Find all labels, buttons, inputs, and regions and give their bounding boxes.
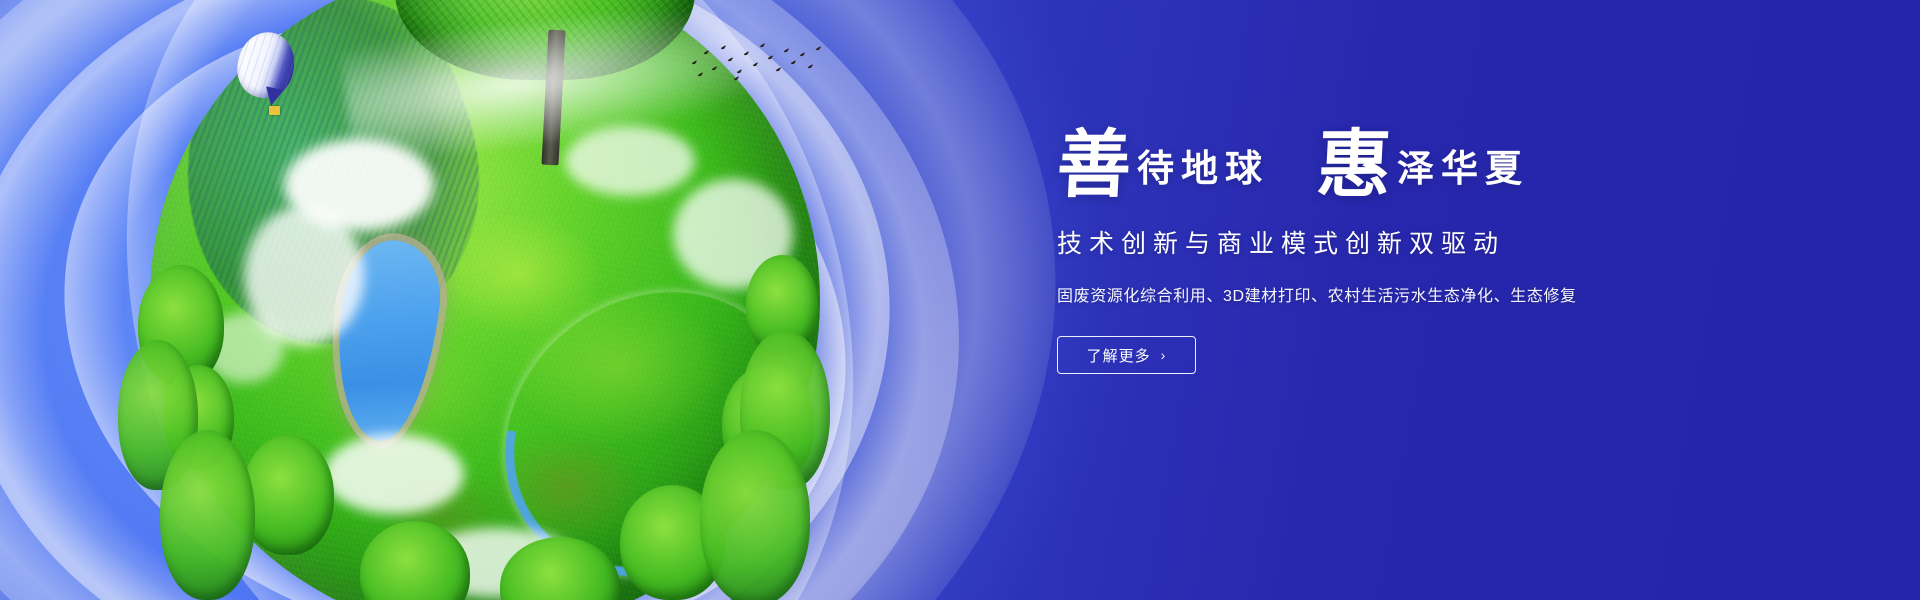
- headline-rest-2: 泽华夏: [1397, 141, 1529, 201]
- headline-lead-2: 惠: [1315, 130, 1393, 200]
- headline-group-1: 善 待地球: [1057, 130, 1269, 200]
- headline-group-2: 惠 泽华夏: [1317, 130, 1529, 200]
- foreground-tree-left-2: [160, 430, 255, 600]
- bird-flock-icon: [690, 44, 820, 86]
- planet-cloud-3: [324, 434, 464, 514]
- balloon-basket: [269, 106, 280, 115]
- hero-copy: 善 待地球 惠 泽华夏 技术创新与商业模式创新双驱动 固废资源化综合利用、3D建…: [1057, 130, 1757, 374]
- chevron-right-icon: ›: [1161, 348, 1167, 362]
- rim-tree-bottom-left: [242, 435, 334, 555]
- page-description: 固废资源化综合利用、3D建材打印、农村生活污水生态净化、生态修复: [1057, 282, 1757, 306]
- learn-more-label: 了解更多: [1087, 345, 1151, 366]
- balloon-tail: [262, 86, 283, 107]
- hot-air-balloon-icon: [238, 32, 294, 124]
- page-subtitle: 技术创新与商业模式创新双驱动: [1057, 224, 1757, 260]
- foreground-tree-right-2: [700, 430, 810, 600]
- headline-lead-1: 善: [1055, 130, 1133, 200]
- hero-banner: 善 待地球 惠 泽华夏 技术创新与商业模式创新双驱动 固废资源化综合利用、3D建…: [0, 0, 1920, 600]
- learn-more-button[interactable]: 了解更多 ›: [1057, 336, 1196, 374]
- page-title: 善 待地球 惠 泽华夏: [1057, 130, 1757, 200]
- headline-rest-1: 待地球: [1137, 141, 1269, 201]
